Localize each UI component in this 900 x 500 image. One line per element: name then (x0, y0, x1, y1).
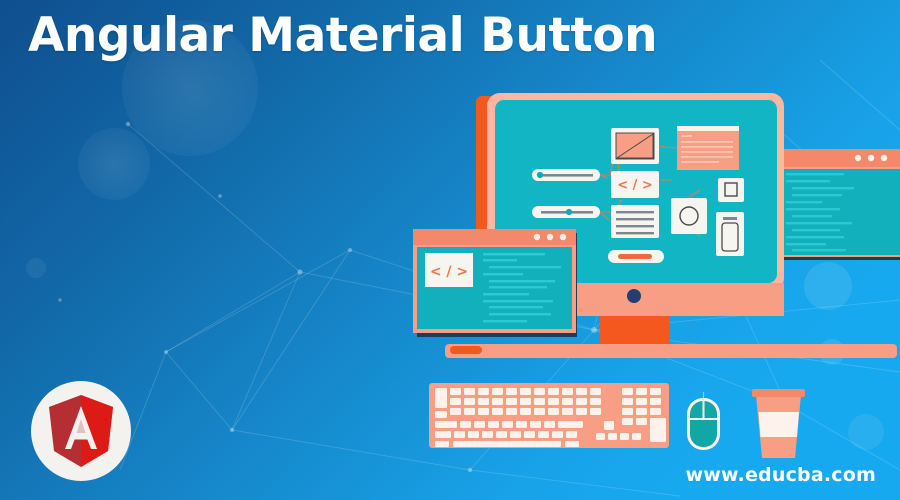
paper-cup (752, 389, 805, 458)
code-card-text: < / > (617, 178, 653, 193)
angular-logo: A (29, 379, 133, 483)
banner: < / > (0, 0, 900, 500)
site-url: www.educba.com (686, 464, 877, 486)
browser-window-front: < / > (413, 229, 577, 337)
front-window-code-text: < / > (430, 264, 468, 280)
window-dots-back (855, 155, 887, 161)
computer-mouse (687, 392, 720, 450)
desk-bar (445, 344, 897, 358)
circle-card (671, 198, 707, 234)
page-title: Angular Material Button (28, 8, 657, 63)
text-lines-card (611, 205, 659, 238)
progress-bar-card (608, 250, 664, 263)
slider-middle (532, 206, 600, 218)
code-card: < / > (611, 171, 659, 198)
mobile-card (716, 212, 744, 256)
power-indicator (627, 289, 641, 303)
slider-top (532, 169, 600, 181)
monitor-stand (600, 316, 670, 345)
window-dots-front (534, 234, 566, 240)
content-panel (677, 126, 739, 170)
browser-window-back (777, 149, 900, 260)
small-square-card (718, 178, 744, 202)
keyboard (429, 383, 669, 448)
image-placeholder-card (611, 128, 659, 164)
web-development-workstation: < / > (0, 0, 900, 500)
